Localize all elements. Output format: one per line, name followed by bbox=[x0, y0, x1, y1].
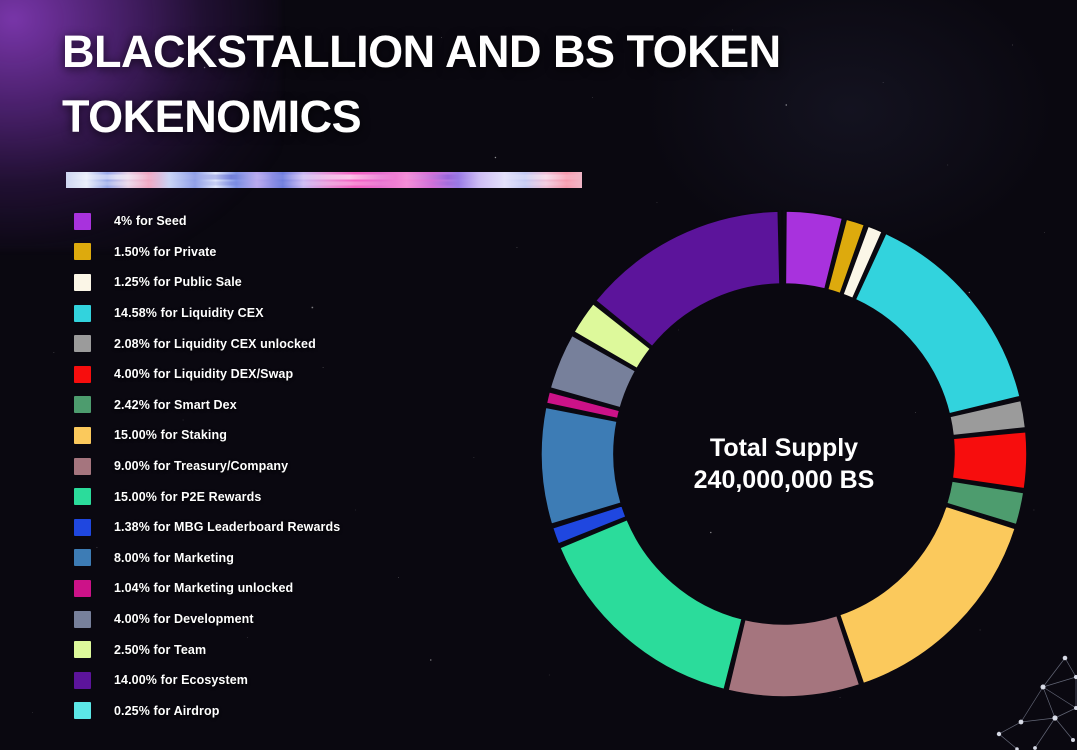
tokenomics-donut-chart: 4% for Seed1.50% for Private1.25% for Pu… bbox=[528, 198, 1040, 710]
legend-color-swatch bbox=[74, 213, 91, 230]
gradient-divider-bar bbox=[66, 172, 582, 188]
legend-item[interactable]: 1.04% for Marketing unlocked bbox=[74, 573, 474, 604]
donut-slice[interactable]: 8.00% for Marketing bbox=[541, 407, 621, 524]
legend-item[interactable]: 14.00% for Ecosystem bbox=[74, 665, 474, 696]
donut-slice[interactable]: 15.00% for Staking bbox=[840, 506, 1016, 684]
legend-item-label: 14.00% for Ecosystem bbox=[114, 673, 248, 687]
legend-item-label: 9.00% for Treasury/Company bbox=[114, 459, 288, 473]
legend-item-label: 2.42% for Smart Dex bbox=[114, 398, 237, 412]
legend-color-swatch bbox=[74, 611, 91, 628]
legend-item-label: 0.25% for Airdrop bbox=[114, 704, 219, 718]
legend-item[interactable]: 4% for Seed bbox=[74, 206, 474, 237]
legend-item-label: 1.38% for MBG Leaderboard Rewards bbox=[114, 520, 340, 534]
donut-slice[interactable]: 15.00% for P2E Rewards bbox=[560, 520, 742, 690]
title-line-1: BLACKSTALLION AND BS TOKEN bbox=[62, 20, 922, 85]
legend-item[interactable]: 1.38% for MBG Leaderboard Rewards bbox=[74, 512, 474, 543]
legend-color-swatch bbox=[74, 335, 91, 352]
legend-item-label: 1.50% for Private bbox=[114, 245, 216, 259]
legend-item-label: 4.00% for Liquidity DEX/Swap bbox=[114, 367, 293, 381]
legend-color-swatch bbox=[74, 641, 91, 658]
legend-item[interactable]: 2.08% for Liquidity CEX unlocked bbox=[74, 328, 474, 359]
legend-color-swatch bbox=[74, 549, 91, 566]
donut-slice[interactable]: 0.25% for Airdrop bbox=[782, 211, 783, 284]
legend-color-swatch bbox=[74, 396, 91, 413]
donut-slice[interactable]: 14.58% for Liquidity CEX bbox=[855, 233, 1020, 414]
legend-color-swatch bbox=[74, 274, 91, 291]
legend-item-label: 2.08% for Liquidity CEX unlocked bbox=[114, 337, 316, 351]
legend-item-label: 4% for Seed bbox=[114, 214, 187, 228]
legend-item[interactable]: 15.00% for P2E Rewards bbox=[74, 481, 474, 512]
legend-color-swatch bbox=[74, 580, 91, 597]
page-title: BLACKSTALLION AND BS TOKEN TOKENOMICS bbox=[62, 20, 922, 150]
legend-item[interactable]: 4.00% for Development bbox=[74, 604, 474, 635]
legend-item[interactable]: 8.00% for Marketing bbox=[74, 543, 474, 574]
legend-item[interactable]: 14.58% for Liquidity CEX bbox=[74, 298, 474, 329]
legend-item-label: 14.58% for Liquidity CEX bbox=[114, 306, 264, 320]
legend-item[interactable]: 1.50% for Private bbox=[74, 237, 474, 268]
legend-item[interactable]: 9.00% for Treasury/Company bbox=[74, 451, 474, 482]
legend-color-swatch bbox=[74, 458, 91, 475]
legend-item[interactable]: 15.00% for Staking bbox=[74, 420, 474, 451]
legend-item-label: 1.25% for Public Sale bbox=[114, 275, 242, 289]
legend-item[interactable]: 1.25% for Public Sale bbox=[74, 267, 474, 298]
title-line-2: TOKENOMICS bbox=[62, 85, 922, 150]
legend-color-swatch bbox=[74, 488, 91, 505]
total-supply-value: 240,000,000 BS bbox=[694, 466, 875, 494]
legend-color-swatch bbox=[74, 702, 91, 719]
legend-color-swatch bbox=[74, 366, 91, 383]
total-supply-label: Total Supply bbox=[710, 434, 858, 462]
legend-color-swatch bbox=[74, 427, 91, 444]
legend-item-label: 15.00% for Staking bbox=[114, 428, 227, 442]
legend-item-label: 15.00% for P2E Rewards bbox=[114, 490, 261, 504]
legend-item-label: 4.00% for Development bbox=[114, 612, 254, 626]
legend-item[interactable]: 2.50% for Team bbox=[74, 634, 474, 665]
legend-color-swatch bbox=[74, 305, 91, 322]
legend-item[interactable]: 2.42% for Smart Dex bbox=[74, 390, 474, 421]
legend-color-swatch bbox=[74, 243, 91, 260]
legend-item-label: 1.04% for Marketing unlocked bbox=[114, 581, 293, 595]
legend-item[interactable]: 4.00% for Liquidity DEX/Swap bbox=[74, 359, 474, 390]
legend-color-swatch bbox=[74, 519, 91, 536]
legend-item[interactable]: 0.25% for Airdrop bbox=[74, 696, 474, 727]
tokenomics-infographic: BLACKSTALLION AND BS TOKEN TOKENOMICS bbox=[0, 0, 1077, 750]
legend-item-label: 8.00% for Marketing bbox=[114, 551, 234, 565]
legend: 4% for Seed1.50% for Private1.25% for Pu… bbox=[74, 206, 474, 726]
legend-item-label: 2.50% for Team bbox=[114, 643, 206, 657]
donut-slice[interactable]: 9.00% for Treasury/Company bbox=[728, 616, 860, 697]
donut-slice[interactable]: 4.00% for Liquidity DEX/Swap bbox=[952, 432, 1027, 489]
legend-color-swatch bbox=[74, 672, 91, 689]
